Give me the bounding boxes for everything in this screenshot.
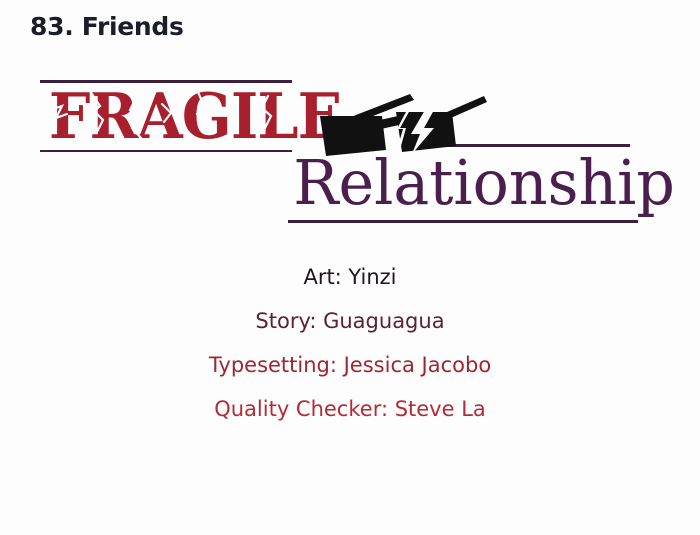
credit-story: Story: Guaguagua: [0, 299, 700, 343]
credit-typesetting: Typesetting: Jessica Jacobo: [0, 343, 700, 387]
credit-quality-checker: Quality Checker: Steve La: [0, 387, 700, 431]
logo-word-fragile: FRAGILE: [49, 86, 283, 148]
relationship-bottom-rule: [288, 220, 638, 223]
cracked-sunglasses-icon: [306, 92, 492, 164]
chapter-heading: 83. Friends: [30, 12, 184, 41]
credit-art: Art: Yinzi: [0, 255, 700, 299]
credits-block: Art: Yinzi Story: Guaguagua Typesetting:…: [0, 255, 700, 431]
comic-title-page: 83. Friends FRAGILE Rela: [0, 0, 700, 535]
series-logo: FRAGILE Relationship: [0, 60, 700, 235]
logo-word-fragile-group: FRAGILE: [40, 80, 292, 152]
